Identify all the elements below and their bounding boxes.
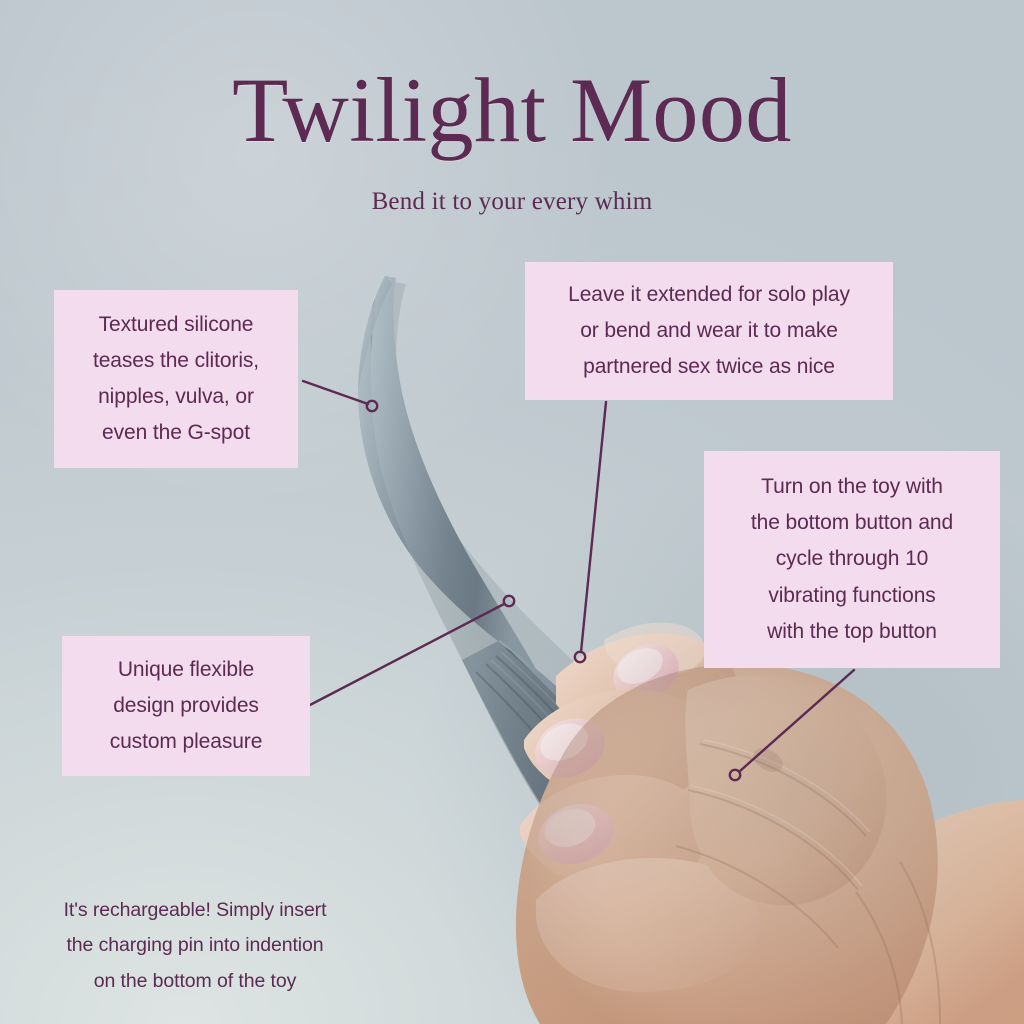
- callout-line: Turn on the toy with: [761, 469, 943, 505]
- page-subtitle: Bend it to your every whim: [0, 188, 1024, 216]
- callout-line: even the G-spot: [102, 415, 250, 451]
- page-title: Twilight Mood: [0, 62, 1024, 160]
- callout-textured-silicone: Textured silicone teases the clitoris, n…: [54, 290, 298, 468]
- callout-line: vibrating functions: [768, 578, 935, 614]
- callout-line: or bend and wear it to make: [580, 313, 838, 349]
- callout-flexible-design: Unique flexible design provides custom p…: [62, 636, 310, 776]
- callout-line: design provides: [113, 688, 259, 724]
- callout-line: Textured silicone: [99, 307, 254, 343]
- poster-canvas: Twilight Mood Bend it to your every whim…: [0, 0, 1024, 1024]
- callout-line: custom pleasure: [110, 724, 263, 760]
- note-rechargeable: It's rechargeable! Simply insert the cha…: [24, 893, 366, 999]
- note-line: It's rechargeable! Simply insert: [24, 893, 366, 928]
- callout-line: nipples, vulva, or: [98, 379, 254, 415]
- callout-line: teases the clitoris,: [93, 343, 259, 379]
- callout-line: cycle through 10: [776, 541, 929, 577]
- callout-line: partnered sex twice as nice: [583, 349, 835, 385]
- callout-line: Leave it extended for solo play: [568, 277, 850, 313]
- callout-buttons-and-functions: Turn on the toy with the bottom button a…: [704, 451, 1000, 668]
- note-line: the charging pin into indention: [24, 928, 366, 963]
- callout-line: Unique flexible: [118, 652, 254, 688]
- callout-line: the bottom button and: [751, 505, 953, 541]
- callout-line: with the top button: [767, 614, 937, 650]
- note-line: on the bottom of the toy: [24, 964, 366, 999]
- callout-extended-or-bent: Leave it extended for solo play or bend …: [525, 262, 893, 400]
